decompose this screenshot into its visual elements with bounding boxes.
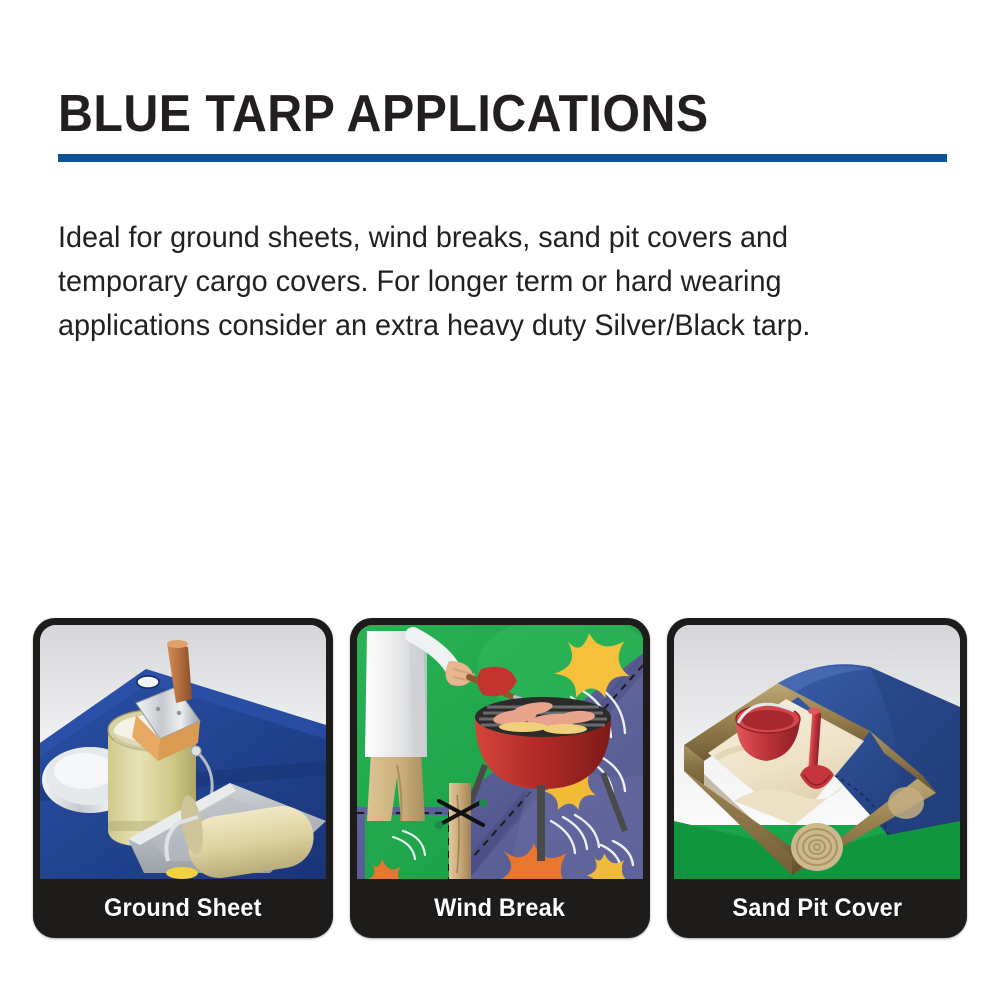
card-caption-wind-break: Wind Break [350, 879, 650, 938]
wind-break-illustration [357, 625, 643, 879]
application-card-sand-pit-cover[interactable]: Sand Pit Cover [667, 618, 967, 938]
card-caption-label: Wind Break [435, 894, 566, 923]
card-caption-sand-pit-cover: Sand Pit Cover [667, 879, 967, 938]
application-card-row: Ground Sheet [33, 618, 969, 938]
sand-pit-cover-illustration [674, 625, 960, 879]
card-caption-ground-sheet: Ground Sheet [33, 879, 333, 938]
page-title: BLUE TARP APPLICATIONS [58, 87, 709, 142]
intro-paragraph: Ideal for ground sheets, wind breaks, sa… [58, 216, 903, 348]
ground-sheet-illustration [40, 625, 326, 879]
card-caption-label: Ground Sheet [104, 894, 262, 923]
application-card-ground-sheet[interactable]: Ground Sheet [33, 618, 333, 938]
application-card-wind-break[interactable]: Wind Break [350, 618, 650, 938]
header-divider [58, 154, 947, 162]
card-caption-label: Sand Pit Cover [732, 894, 902, 923]
